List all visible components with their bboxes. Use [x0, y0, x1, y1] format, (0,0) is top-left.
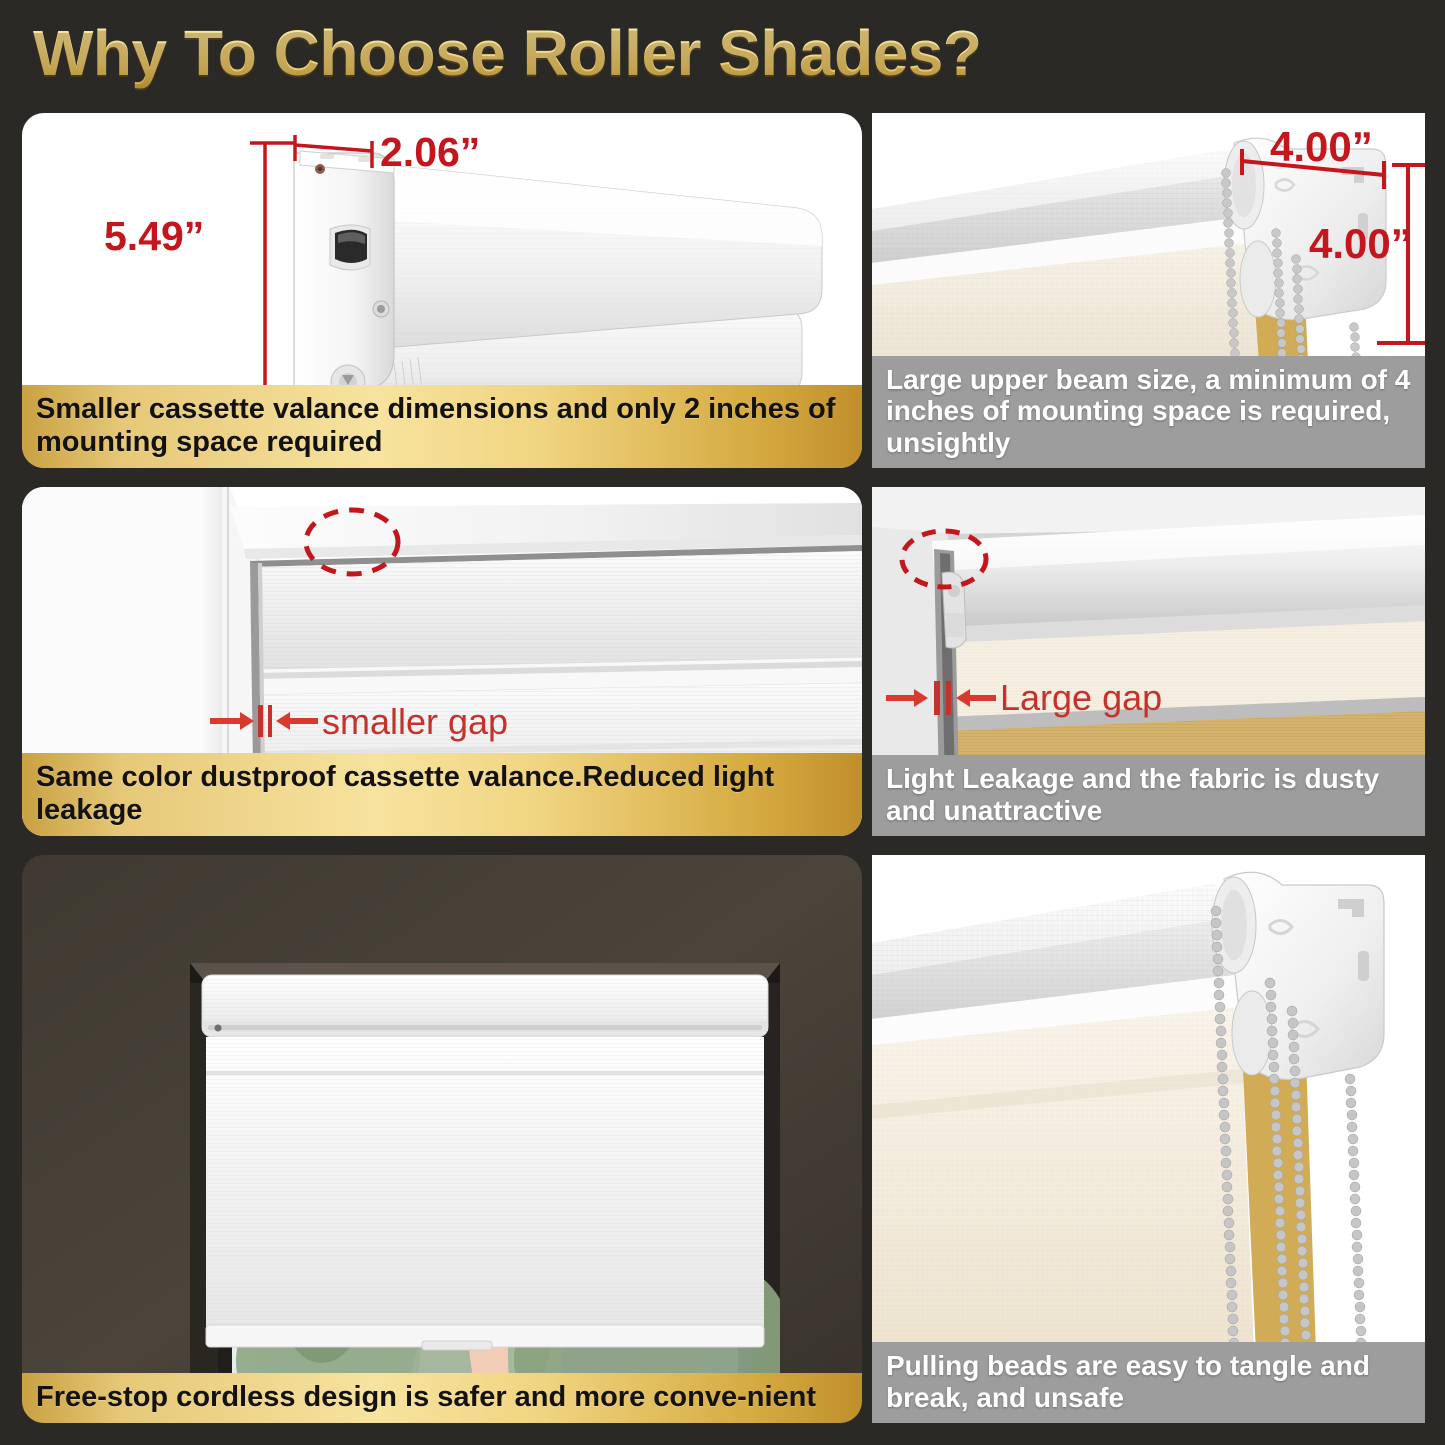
page-title: Why To Choose Roller Shades? [33, 16, 981, 90]
panel-caption: Large upper beam size, a minimum of 4 in… [872, 356, 1425, 468]
gap-annotation-text: smaller gap [322, 701, 508, 743]
panel-caption: Smaller cassette valance dimensions and … [22, 385, 862, 468]
dimension-height-label: 4.00” [1309, 220, 1412, 268]
pulling-beads-photo [872, 855, 1425, 1423]
panel-pulling-beads: Pulling beads are easy to tangle and bre… [872, 855, 1425, 1423]
panel-dustproof-valance: smaller gap smaller gap Same color dustp… [22, 487, 862, 836]
dimension-width-label: 2.06” [380, 129, 480, 176]
title-bar: Why To Choose Roller Shades? [0, 0, 1445, 108]
panel-caption: Pulling beads are easy to tangle and bre… [872, 1342, 1425, 1423]
dimension-width-label: 4.00” [1270, 123, 1373, 171]
panel-cassette-dimensions: 2.06” 5.49” Smaller cassette valance dim… [22, 113, 862, 468]
panel-caption: Light Leakage and the fabric is dusty an… [872, 755, 1425, 836]
panel-caption: Free-stop cordless design is safer and m… [22, 1373, 862, 1423]
bead-chain-illustration [872, 855, 1425, 1423]
panel-upper-beam-size: 4.00” 4.00” Large upper beam size, a min… [872, 113, 1425, 468]
gap-annotation-text: Large gap [1000, 677, 1162, 719]
panel-light-leakage: Large gap Light Leakage and the fabric i… [872, 487, 1425, 836]
room-window-illustration [22, 855, 862, 1423]
panel-cordless-design: Free-stop cordless design is safer and m… [22, 855, 862, 1423]
panel-caption: Same color dustproof cassette valance.Re… [22, 753, 862, 836]
cordless-window-photo [22, 855, 862, 1423]
dimension-height-label: 5.49” [104, 213, 204, 260]
